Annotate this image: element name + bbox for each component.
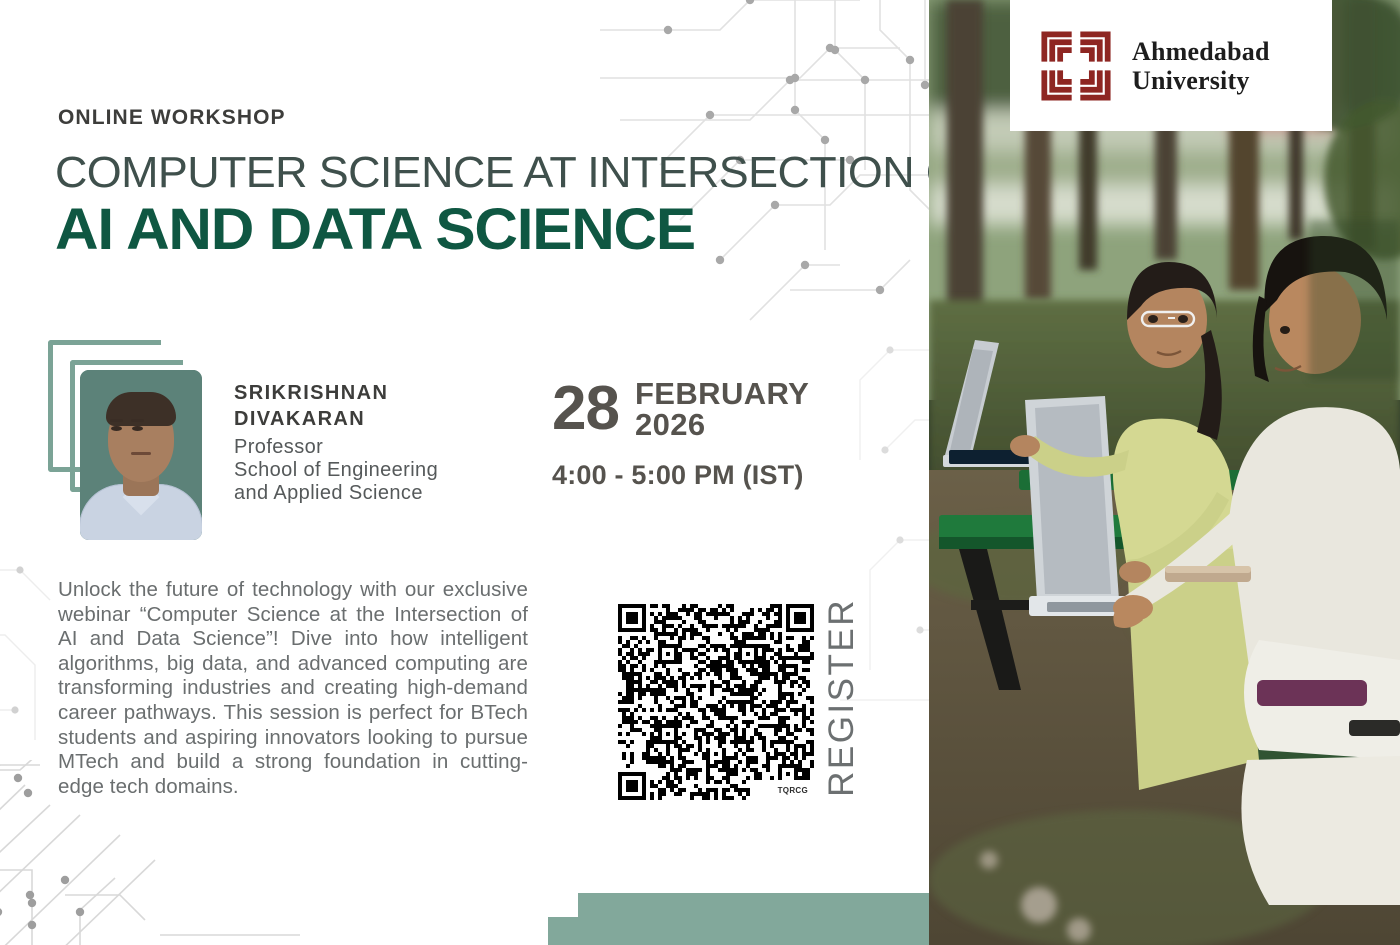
speaker-role: Professor School of Engineering and Appl… (234, 436, 438, 505)
event-date-block: 28 FEBRUARY 2026 4:00 - 5:00 PM (IST) (552, 378, 882, 491)
speaker-name: SRIKRISHNAN DIVAKARAN (234, 380, 388, 432)
title-line-1: COMPUTER SCIENCE AT INTERSECTION OF (55, 148, 987, 198)
qr-brand-label: TQRCG (776, 785, 810, 796)
title-line-2: AI AND DATA SCIENCE (55, 196, 695, 263)
register-label: REGISTER (822, 598, 862, 797)
qr-code-block[interactable]: TQRCG (618, 604, 814, 800)
left-content-column: ONLINE WORKSHOP COMPUTER SCIENCE AT INTE… (0, 0, 929, 945)
university-logo-card: Ahmedabad University (1010, 0, 1332, 131)
registration-qr-code-icon[interactable] (618, 604, 814, 800)
hero-photo-illustration (929, 0, 1400, 945)
kicker-label: ONLINE WORKSHOP (58, 106, 286, 130)
event-description: Unlock the future of technology with our… (58, 578, 528, 799)
ahmedabad-university-logo-icon (1040, 30, 1112, 102)
speaker-block: SRIKRISHNAN DIVAKARAN Professor School o… (48, 338, 518, 518)
poster-canvas: ONLINE WORKSHOP COMPUTER SCIENCE AT INTE… (0, 0, 1400, 945)
bottom-stepped-accent (520, 869, 930, 945)
speaker-photo (80, 370, 202, 540)
event-time: 4:00 - 5:00 PM (IST) (552, 460, 882, 491)
university-name: Ahmedabad University (1132, 37, 1270, 95)
event-month-year: FEBRUARY 2026 (635, 378, 809, 440)
event-day: 28 (552, 380, 619, 438)
hero-photo-panel (929, 0, 1400, 945)
